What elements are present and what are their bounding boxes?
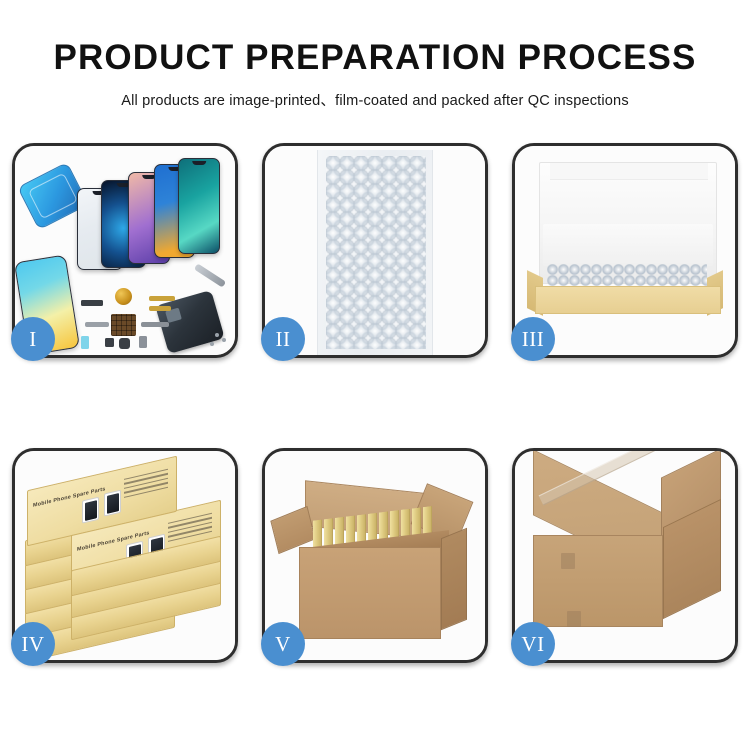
carton-front-face: [299, 547, 441, 639]
step-badge-6: VI: [511, 622, 555, 666]
phone-teal: [178, 158, 220, 254]
screw-1: [215, 333, 219, 337]
process-step-2: II: [262, 143, 488, 358]
carton-side-face: [441, 528, 467, 631]
step-badge-2: II: [261, 317, 305, 361]
header: PRODUCT PREPARATION PROCESS All products…: [0, 0, 750, 110]
flex-cable-2: [149, 306, 171, 311]
step-badge-4: IV: [11, 622, 55, 666]
step-badge-5: V: [261, 622, 305, 666]
foam-insert: [543, 224, 713, 266]
speaker-part: [81, 300, 103, 306]
flex-cable-4: [85, 322, 109, 327]
retail-box-stack: Mobile Phone Spare Parts Mobile Phone Sp…: [19, 469, 235, 659]
sim-tray-part: [139, 336, 147, 348]
logic-board-chip: [111, 314, 136, 336]
bubble-wrap-sheet: [317, 150, 433, 355]
wireless-charge-coil: [115, 288, 132, 305]
repair-tweezers: [194, 263, 226, 287]
process-step-3: III: [512, 143, 738, 358]
process-step-6: VI: [512, 448, 738, 663]
box-phone-thumbnail-d: [104, 490, 121, 517]
sealed-carton-front-face: [533, 535, 663, 627]
bubble-grid-offset: [326, 156, 426, 349]
carton-handle-notch-top: [561, 553, 575, 569]
flex-cable-1: [149, 296, 175, 301]
box-spec-lines-back: [124, 469, 168, 501]
flex-cable-3: [141, 322, 169, 327]
process-step-1: I: [12, 143, 238, 358]
process-step-4: Mobile Phone Spare Parts Mobile Phone Sp…: [12, 448, 238, 663]
product-preparation-infographic: PRODUCT PREPARATION PROCESS All products…: [0, 0, 750, 750]
step-badge-3: III: [511, 317, 555, 361]
screw-3: [210, 342, 214, 346]
screw-2: [222, 338, 226, 342]
step-badge-1: I: [11, 317, 55, 361]
process-step-5: V: [262, 448, 488, 663]
camera-module: [119, 338, 130, 349]
page-subtitle: All products are image-printed、film-coat…: [0, 89, 750, 110]
battery-connector: [81, 336, 89, 349]
button-part: [105, 338, 114, 347]
process-step-grid: I II III: [12, 143, 738, 663]
page-title: PRODUCT PREPARATION PROCESS: [0, 38, 750, 78]
wrapped-items-inside: [547, 264, 707, 288]
carton-handle-notch-bottom: [567, 611, 581, 627]
box-phone-thumbnail-c: [82, 497, 99, 524]
box-front-face: [535, 286, 721, 314]
